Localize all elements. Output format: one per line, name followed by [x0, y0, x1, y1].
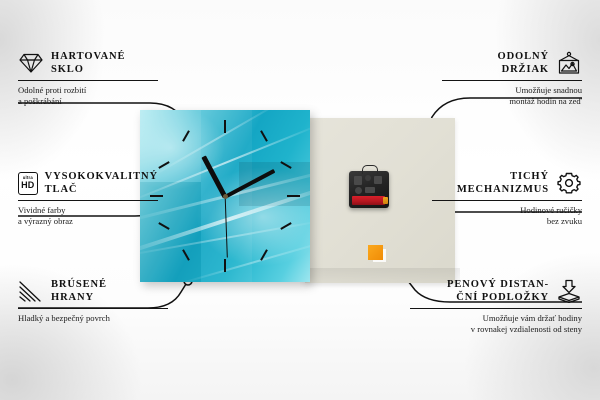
hand-hub [223, 194, 228, 199]
feature-silent-mechanism: TICHÝ MECHANIZMUS Hodinové ručičky bez z… [432, 170, 582, 227]
divider [18, 308, 168, 309]
feature-desc-line2: bez zvuku [432, 216, 582, 227]
feature-hardened-glass: HARTOVANÉ SKLO Odolné proti rozbití a po… [18, 50, 158, 107]
feature-high-quality-print: ultra HD VYSOKOKVALITNÝ TLAČ Vividné far… [18, 170, 158, 227]
feature-desc-line2: v rovnakej vzdialenosti od steny [410, 324, 582, 335]
movement-knob [355, 187, 362, 194]
brushed-edges-icon [18, 280, 44, 302]
divider [442, 80, 582, 81]
feature-title-line1: VYSOKOKVALITNÝ [45, 170, 158, 183]
hour-tick [224, 259, 226, 272]
feature-title-line2: MECHANIZMUS [457, 183, 549, 196]
hour-tick [287, 195, 300, 197]
feature-desc-line1: Vividné farby [18, 205, 158, 216]
gear-icon [556, 171, 582, 195]
hour-tick [260, 130, 268, 141]
feature-heading: TICHÝ MECHANIZMUS [432, 170, 582, 196]
feature-desc-line1: Hladký a bezpečný povrch [18, 313, 168, 324]
divider [18, 80, 158, 81]
feature-title-line2: SKLO [51, 63, 125, 76]
feature-durable-mount: ODOLNÝ DRŽIAK Umožňuje snadnou montáž ho… [442, 50, 582, 107]
hd-badge-bottom: HD [21, 181, 34, 190]
feature-heading: BRÚSENÉ HRANY [18, 278, 168, 304]
feature-title-line2: HRANY [51, 291, 107, 304]
feature-title-line1: ODOLNÝ [498, 50, 550, 63]
movement-knob [354, 176, 362, 185]
hanger-icon [362, 165, 378, 174]
feature-heading: HARTOVANÉ SKLO [18, 50, 158, 76]
diamond-icon [18, 52, 44, 74]
battery-terminal [383, 197, 388, 204]
feature-heading: ultra HD VYSOKOKVALITNÝ TLAČ [18, 170, 158, 196]
feature-desc-line1: Umožňuje vám držať hodiny [410, 313, 582, 324]
feature-title-line2: ČNÍ PODLOŽKY [447, 291, 549, 304]
infographic-canvas: HARTOVANÉ SKLO Odolné proti rozbití a po… [0, 0, 600, 400]
feature-desc-line1: Hodinové ručičky [432, 205, 582, 216]
foam-spacer-pad [368, 245, 383, 260]
hour-tick [224, 120, 226, 133]
ultra-hd-badge-icon: ultra HD [18, 172, 38, 195]
feature-title-line1: TICHÝ [457, 170, 549, 183]
wall-mount-frame-icon [556, 51, 582, 75]
feature-desc-line1: Umožňuje snadnou [442, 85, 582, 96]
feature-desc-line2: a poškrábání [18, 96, 158, 107]
movement-knob [365, 187, 375, 193]
foam-spacer-icon [556, 279, 582, 303]
clock-face [140, 110, 310, 282]
clock-movement [349, 171, 389, 208]
feature-heading: ODOLNÝ DRŽIAK [442, 50, 582, 76]
feature-title-line2: DRŽIAK [498, 63, 550, 76]
feature-heading: PENOVÝ DISTAN- ČNÍ PODLOŽKY [410, 278, 582, 304]
divider [18, 200, 158, 201]
feature-desc-line2: a výrazný obraz [18, 216, 158, 227]
feature-title-line1: PENOVÝ DISTAN- [447, 278, 549, 291]
feature-brushed-edges: BRÚSENÉ HRANY Hladký a bezpečný povrch [18, 278, 168, 324]
feature-title-line2: TLAČ [45, 183, 158, 196]
feature-desc-line2: montáž hodin na zeď [442, 96, 582, 107]
movement-knob [365, 175, 371, 181]
feature-title-line1: HARTOVANÉ [51, 50, 125, 63]
battery [352, 196, 385, 205]
feature-desc-line1: Odolné proti rozbití [18, 85, 158, 96]
divider [432, 200, 582, 201]
movement-knob [374, 176, 382, 184]
divider [410, 308, 582, 309]
feature-title-line1: BRÚSENÉ [51, 278, 107, 291]
feature-foam-spacers: PENOVÝ DISTAN- ČNÍ PODLOŽKY Umožňuje vám… [410, 278, 582, 335]
